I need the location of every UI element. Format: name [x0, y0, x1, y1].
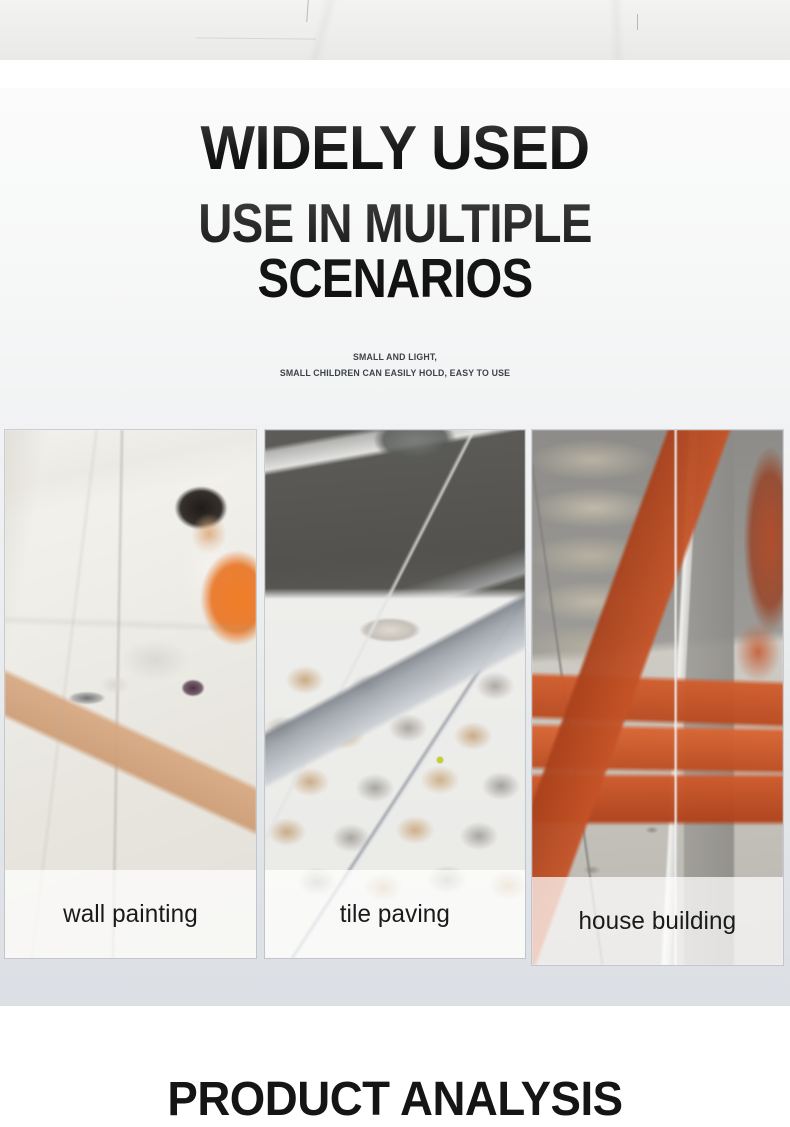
scenario-caption-band: wall painting	[5, 870, 256, 958]
scenario-caption-band: tile paving	[265, 870, 525, 958]
scenario-caption-label: tile paving	[340, 900, 450, 929]
page-title: WIDELY USED	[28, 118, 763, 180]
hero-heading-group: WIDELY USED USE IN MULTIPLE SCENARIOS	[0, 118, 790, 306]
hero-description-line-2: SMALL CHILDREN CAN EASILY HOLD, EASY TO …	[32, 366, 759, 382]
next-section-heading: PRODUCT ANALYSIS	[20, 1072, 771, 1127]
page-subtitle: USE IN MULTIPLE SCENARIOS	[55, 196, 734, 306]
scenario-card-tile-paving[interactable]: tile paving	[265, 430, 525, 958]
section-divider	[0, 60, 790, 88]
scenario-card-wall-painting[interactable]: wall painting	[5, 430, 256, 958]
scenario-caption-band: house building	[532, 877, 783, 965]
wall-scratch-mark	[637, 14, 638, 30]
scenario-caption-label: house building	[579, 907, 737, 936]
hero-description: SMALL AND LIGHT, SMALL CHILDREN CAN EASI…	[32, 350, 759, 383]
previous-section-strip	[0, 0, 790, 60]
scenario-card-house-building[interactable]: house building	[532, 430, 783, 965]
hero-description-line-1: SMALL AND LIGHT,	[32, 350, 759, 366]
scenario-caption-label: wall painting	[63, 900, 198, 929]
wall-scratch-mark	[306, 0, 309, 22]
scenario-gallery: wall painting tile paving house building	[0, 430, 790, 970]
wall-seam-line	[196, 37, 316, 39]
